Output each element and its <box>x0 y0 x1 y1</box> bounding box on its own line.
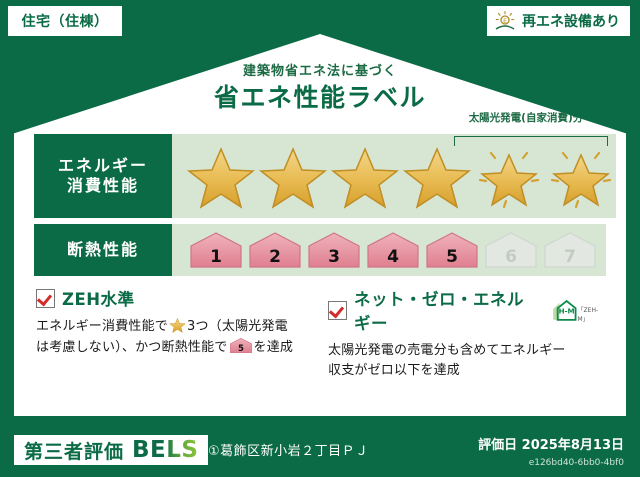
nze-title: ネット・ゼロ・エネルギー <box>354 286 537 334</box>
insulation-level-4: 4 <box>365 230 421 270</box>
building-type-label: 住宅（住棟） <box>22 11 109 31</box>
zeh-checkbox[interactable] <box>36 289 55 308</box>
net-zero-energy-block: ネット・ゼロ・エネルギー H-M 「ZEH-M」 太陽光発電の売電分も含めてエネ… <box>328 286 606 381</box>
insulation-scale-area: 1 2 3 4 5 6 7 <box>172 224 606 276</box>
label-subtitle: 建築物省エネ法に基づく <box>14 60 626 79</box>
star-icon <box>330 143 400 209</box>
zeh-title: ZEH水準 <box>62 286 135 310</box>
insulation-performance-label: 断熱性能 <box>34 224 172 276</box>
star-rating <box>172 143 616 209</box>
star-icon <box>186 143 256 209</box>
svg-text:5: 5 <box>238 344 244 354</box>
svg-text:4: 4 <box>387 247 399 267</box>
energy-performance-row: エネルギー 消費性能 太陽光発電(自家消費)分 <box>34 134 606 218</box>
insulation-level-6: 6 <box>483 230 539 270</box>
building-type-badge: 住宅（住棟） <box>8 6 122 36</box>
svg-text:H-M: H-M <box>559 307 575 316</box>
zeh-description: エネルギー消費性能で3つ（太陽光発電 は考慮しない）、かつ断熱性能で5を達成 <box>36 317 314 358</box>
energy-performance-label: エネルギー 消費性能 <box>34 134 172 218</box>
evaluation-id: e126bd40-6bb0-4bf0 <box>529 458 624 468</box>
star-solar-icon <box>474 143 544 209</box>
solar-note-label: 太陽光発電(自家消費)分 <box>442 110 610 125</box>
bels-jp-label: 第三者評価 <box>24 437 124 464</box>
insulation-performance-row: 断熱性能 1 2 3 4 5 6 7 <box>34 224 606 276</box>
energy-label: 住宅（住棟） E 再エネ設備あり 建築物省エネ法に基づく 省エネ性能ラベル エネ… <box>0 0 640 477</box>
renewable-equipment-badge: E 再エネ設備あり <box>487 6 630 36</box>
insulation-level-1: 1 <box>188 230 244 270</box>
bels-badge: 第三者評価 BELS <box>14 435 208 465</box>
star-solar-icon <box>546 143 616 209</box>
svg-text:7: 7 <box>564 247 576 267</box>
info-section: ZEH水準 エネルギー消費性能で3つ（太陽光発電 は考慮しない）、かつ断熱性能で… <box>36 286 606 381</box>
property-address: ①葛飾区新小岩２丁目ＰＪ <box>208 440 369 459</box>
insulation-level-2: 2 <box>247 230 303 270</box>
renewable-equipment-label: 再エネ設備あり <box>522 11 620 31</box>
nze-checkbox[interactable] <box>328 301 347 320</box>
label-card: 建築物省エネ法に基づく 省エネ性能ラベル エネルギー 消費性能 太陽光発電(自家… <box>14 34 626 416</box>
nze-description: 太陽光発電の売電分も含めてエネルギー 収支がゼロ以下を達成 <box>328 341 606 381</box>
svg-text:3: 3 <box>328 247 340 267</box>
zeh-m-caption: 「ZEH-M」 <box>578 305 606 323</box>
zeh-block: ZEH水準 エネルギー消費性能で3つ（太陽光発電 は考慮しない）、かつ断熱性能で… <box>36 286 314 381</box>
svg-text:1: 1 <box>210 247 222 267</box>
insulation-level-icon: 5 <box>229 337 253 354</box>
star-icon <box>169 317 186 333</box>
evaluation-date: 評価日 2025年8月13日 <box>478 434 624 453</box>
star-icon <box>258 143 328 209</box>
ratings-section: エネルギー 消費性能 太陽光発電(自家消費)分 <box>34 134 606 282</box>
svg-text:6: 6 <box>505 247 517 267</box>
svg-text:E: E <box>503 18 507 25</box>
bels-en-label: BELS <box>132 437 198 463</box>
energy-performance-stars-area: 太陽光発電(自家消費)分 <box>172 134 616 218</box>
insulation-scale: 1 2 3 4 5 6 7 <box>172 230 598 270</box>
sun-icon: E <box>493 10 517 32</box>
insulation-level-7: 7 <box>542 230 598 270</box>
star-icon <box>402 143 472 209</box>
nze-heading: ネット・ゼロ・エネルギー H-M 「ZEH-M」 <box>328 286 606 334</box>
svg-text:2: 2 <box>269 247 281 267</box>
svg-text:5: 5 <box>446 247 458 267</box>
page-title: 省エネ性能ラベル <box>14 78 626 114</box>
zeh-m-logo: H-M 「ZEH-M」 <box>546 297 606 323</box>
insulation-level-3: 3 <box>306 230 362 270</box>
footer: 第三者評価 BELS ①葛飾区新小岩２丁目ＰＪ 評価日 2025年8月13日 e… <box>0 420 640 477</box>
zeh-heading: ZEH水準 <box>36 286 314 310</box>
zeh-house-icon: H-M <box>546 297 576 323</box>
insulation-level-5: 5 <box>424 230 480 270</box>
